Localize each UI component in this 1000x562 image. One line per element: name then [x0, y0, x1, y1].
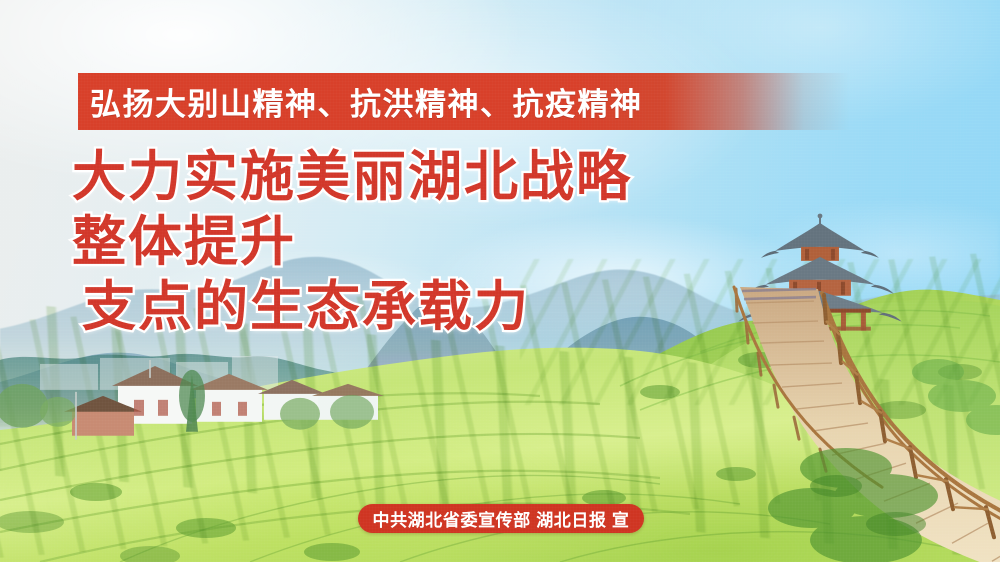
- headline-line-3: 支点的生态承载力: [72, 276, 632, 339]
- poster-canvas: 弘扬大别山精神、抗洪精神、抗疫精神 大力实施美丽湖北战略 整体提升 支点的生态承…: [0, 0, 1000, 562]
- publisher-badge-text: 中共湖北省委宣传部 湖北日报 宣: [372, 506, 629, 531]
- headline-block: 大力实施美丽湖北战略 整体提升 支点的生态承载力: [72, 146, 632, 340]
- subtitle-banner-text: 弘扬大别山精神、抗洪精神、抗疫精神: [90, 79, 643, 124]
- subtitle-banner: 弘扬大别山精神、抗洪精神、抗疫精神: [78, 73, 850, 130]
- publisher-badge: 中共湖北省委宣传部 湖北日报 宣: [358, 504, 644, 533]
- headline-line-2: 整体提升: [72, 211, 632, 274]
- headline-line-1: 大力实施美丽湖北战略: [72, 146, 632, 209]
